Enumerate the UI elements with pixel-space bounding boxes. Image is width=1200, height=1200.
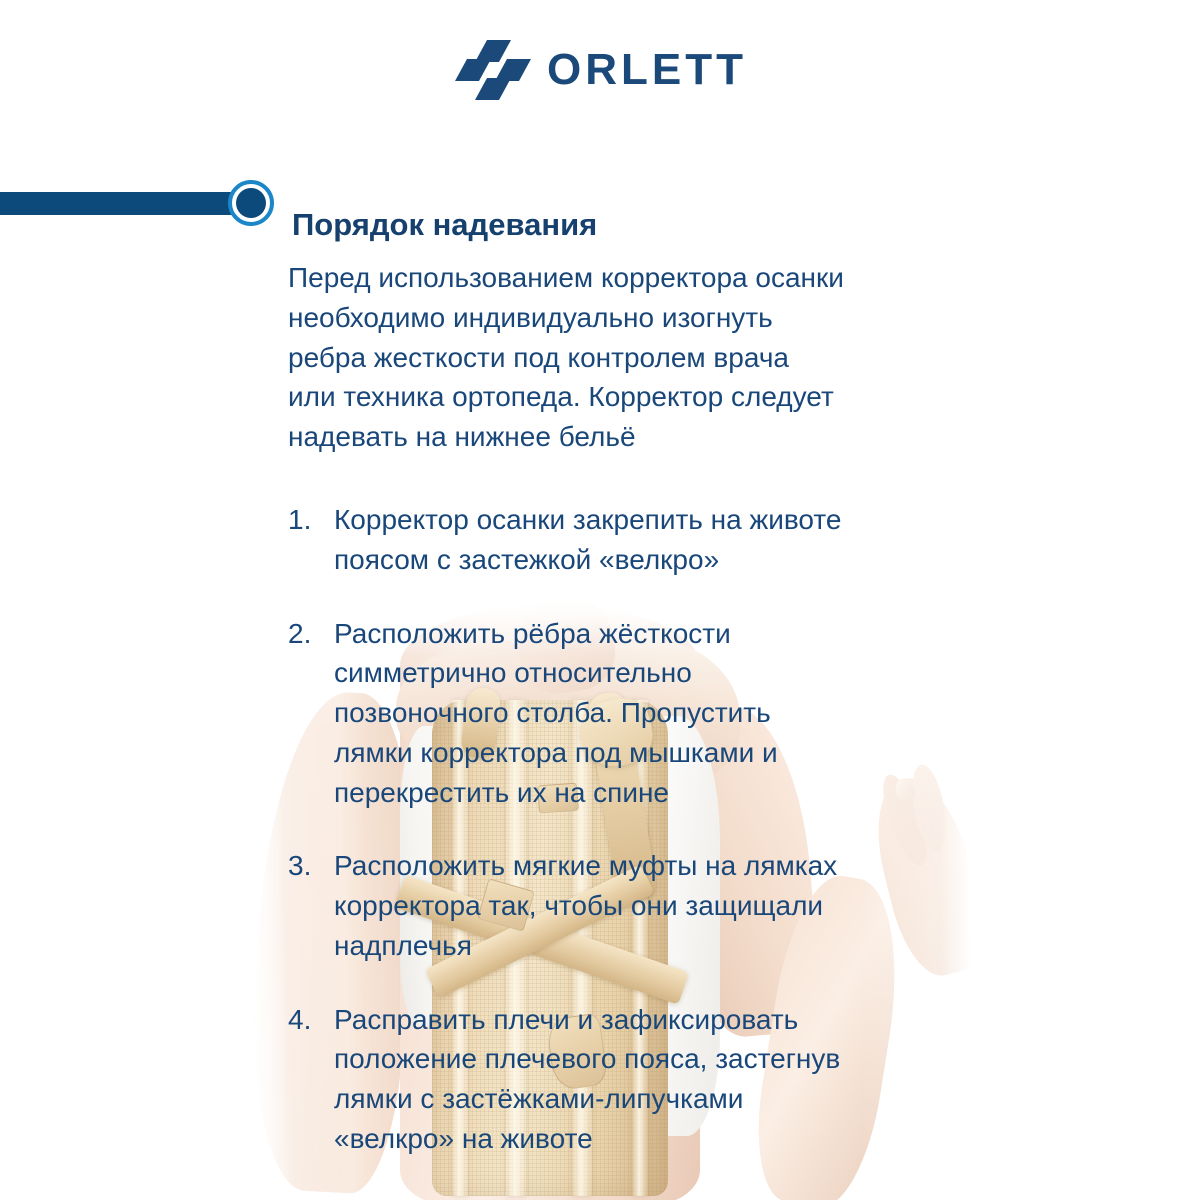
- brand-wordmark: ORLETT: [547, 48, 747, 92]
- step-number: 3.: [288, 846, 334, 886]
- step-line: перекрестить их на спине: [334, 773, 778, 813]
- bullet-core: [236, 188, 266, 218]
- step-line: Расположить мягкие муфты на лямках: [334, 846, 837, 886]
- list-item: 2. Расположить рёбра жёсткости симметрич…: [288, 614, 1078, 813]
- content-layer: ORLETT Порядок надевания Перед использов…: [0, 0, 1200, 1200]
- intro-paragraph: Перед использованием корректора осанки н…: [288, 258, 1048, 457]
- intro-line: необходимо индивидуально изогнуть: [288, 298, 1048, 338]
- heading-bullet-icon: [228, 180, 274, 226]
- step-line: лямки корректора под мышками и: [334, 733, 778, 773]
- intro-line: Перед использованием корректора осанки: [288, 258, 1048, 298]
- step-line: лямки с застёжками-липучками: [334, 1079, 840, 1119]
- step-text: Расположить рёбра жёсткости симметрично …: [334, 614, 778, 813]
- step-text: Расположить мягкие муфты на лямках корре…: [334, 846, 837, 965]
- list-item: 3. Расположить мягкие муфты на лямках ко…: [288, 846, 1078, 965]
- step-number: 2.: [288, 614, 334, 654]
- intro-line: ребра жесткости под контролем врача: [288, 338, 1048, 378]
- step-line: «велкро» на животе: [334, 1119, 840, 1159]
- step-text: Расправить плечи и зафиксировать положен…: [334, 1000, 840, 1159]
- intro-line: или техника ортопеда. Корректор следует: [288, 377, 1048, 417]
- step-line: поясом с застежкой «велкро»: [334, 540, 841, 580]
- step-line: надплечья: [334, 926, 837, 966]
- step-line: положение плечевого пояса, застегнув: [334, 1039, 840, 1079]
- list-item: 4. Расправить плечи и зафиксировать поло…: [288, 1000, 1078, 1159]
- step-line: Корректор осанки закрепить на животе: [334, 500, 841, 540]
- step-number: 1.: [288, 500, 334, 540]
- intro-line: надевать на нижнее бельё: [288, 417, 1048, 457]
- step-text: Корректор осанки закрепить на животе поя…: [334, 500, 841, 580]
- page-title: Порядок надевания: [292, 207, 597, 243]
- orlett-cross-mark-icon: [455, 40, 531, 100]
- step-number: 4.: [288, 1000, 334, 1040]
- step-line: Расположить рёбра жёсткости: [334, 614, 778, 654]
- poster-page: ORLETT Порядок надевания Перед использов…: [0, 0, 1200, 1200]
- heading-rule: [0, 192, 248, 215]
- instruction-steps: 1. Корректор осанки закрепить на животе …: [288, 500, 1078, 1193]
- step-line: Расправить плечи и зафиксировать: [334, 1000, 840, 1040]
- step-line: корректора так, чтобы они защищали: [334, 886, 837, 926]
- step-line: позвоночного столба. Пропустить: [334, 693, 778, 733]
- list-item: 1. Корректор осанки закрепить на животе …: [288, 500, 1078, 580]
- step-line: симметрично относительно: [334, 653, 778, 693]
- brand-logo: ORLETT: [455, 40, 747, 100]
